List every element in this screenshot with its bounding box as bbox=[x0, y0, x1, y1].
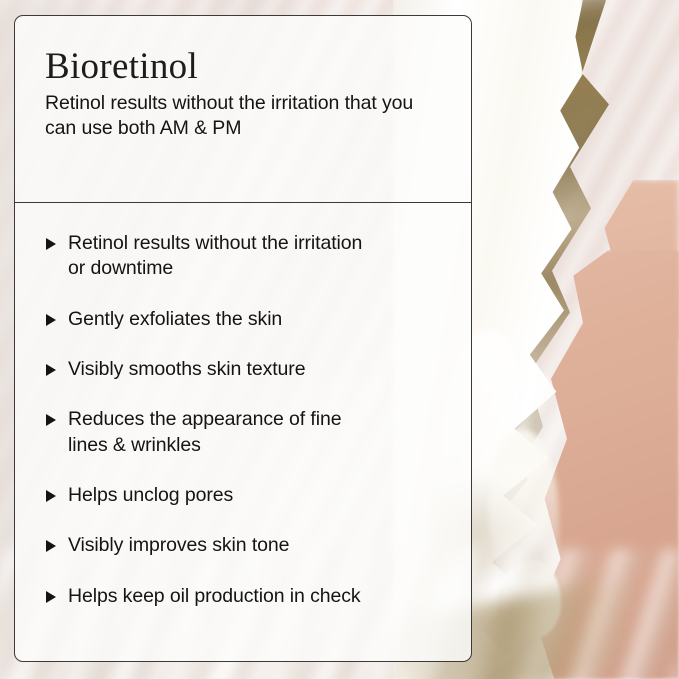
list-item: Visibly smooths skin texture bbox=[46, 357, 445, 382]
info-card: Bioretinol Retinol results without the i… bbox=[14, 15, 472, 662]
list-item: Helps keep oil production in check bbox=[46, 584, 445, 609]
list-item: Retinol results without the irritation o… bbox=[46, 231, 445, 282]
list-item: Reduces the appearance of fine lines & w… bbox=[46, 407, 445, 458]
list-item-label: Reduces the appearance of fine lines & w… bbox=[68, 407, 368, 458]
list-item-label: Retinol results without the irritation o… bbox=[68, 231, 368, 282]
triangle-right-icon bbox=[46, 490, 58, 502]
card-header: Bioretinol Retinol results without the i… bbox=[15, 16, 471, 202]
triangle-right-icon bbox=[46, 591, 58, 603]
triangle-right-icon bbox=[46, 238, 58, 250]
list-item-label: Helps keep oil production in check bbox=[68, 584, 361, 609]
page-title: Bioretinol bbox=[45, 46, 443, 87]
triangle-right-icon bbox=[46, 314, 58, 326]
triangle-right-icon bbox=[46, 540, 58, 552]
list-item-label: Visibly smooths skin texture bbox=[68, 357, 305, 382]
list-item-label: Visibly improves skin tone bbox=[68, 533, 289, 558]
list-item: Gently exfoliates the skin bbox=[46, 307, 445, 332]
list-item-label: Helps unclog pores bbox=[68, 483, 233, 508]
product-benefits-graphic: Bioretinol Retinol results without the i… bbox=[0, 0, 679, 679]
list-item-label: Gently exfoliates the skin bbox=[68, 307, 282, 332]
list-item: Helps unclog pores bbox=[46, 483, 445, 508]
benefits-list: Retinol results without the irritation o… bbox=[15, 203, 471, 609]
card-subtitle: Retinol results without the irritation t… bbox=[45, 91, 443, 141]
triangle-right-icon bbox=[46, 364, 58, 376]
triangle-right-icon bbox=[46, 414, 58, 426]
list-item: Visibly improves skin tone bbox=[46, 533, 445, 558]
